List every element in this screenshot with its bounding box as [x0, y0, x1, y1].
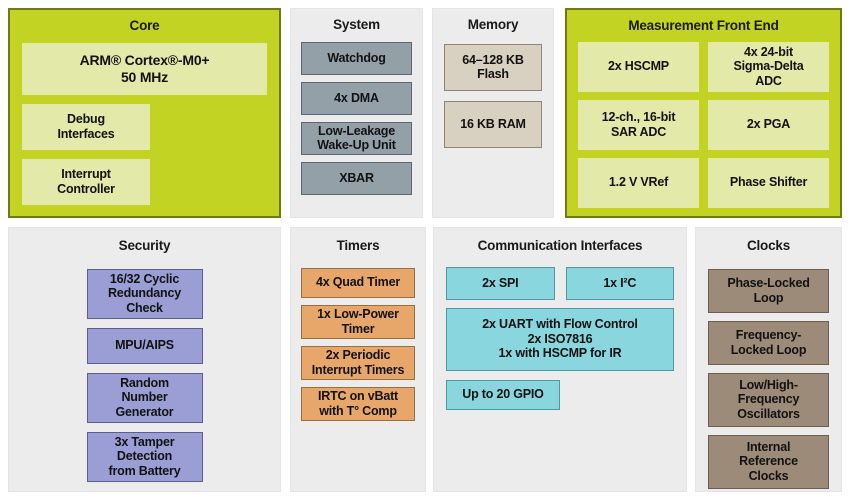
block-sigma-delta-adc: 4x 24-bit Sigma-Delta ADC [708, 42, 829, 92]
block-watchdog: Watchdog [301, 42, 412, 75]
core-block-list: ARM® Cortex®-M0+ 50 MHz Debug Interfaces… [10, 43, 279, 205]
communication-top-row: 2x SPI 1x I²C [446, 267, 674, 300]
panel-measurement-front-end: Measurement Front End 2x HSCMP 4x 24-bit… [565, 8, 842, 218]
block-ram: 16 KB RAM [444, 101, 542, 148]
block-2x-spi: 2x SPI [446, 267, 555, 300]
panel-title-security: Security [119, 239, 171, 253]
block-phase-locked-loop: Phase-Locked Loop [708, 269, 829, 313]
panel-title-core: Core [130, 19, 160, 33]
timers-block-list: 4x Quad Timer 1x Low-Power Timer 2x Peri… [291, 268, 425, 421]
system-block-list: Watchdog 4x DMA Low-Leakage Wake-Up Unit… [291, 42, 422, 195]
block-uart-iso7816-hscmp: 2x UART with Flow Control 2x ISO7816 1x … [446, 308, 674, 371]
block-periodic-interrupt-timers: 2x Periodic Interrupt Timers [301, 346, 415, 380]
panel-title-system: System [333, 18, 380, 32]
panel-title-memory: Memory [468, 18, 519, 32]
panel-title-measurement-front-end: Measurement Front End [628, 19, 778, 33]
panel-memory: Memory 64–128 KB Flash 16 KB RAM [432, 8, 554, 218]
panel-title-timers: Timers [337, 239, 380, 253]
panel-core: Core ARM® Cortex®-M0+ 50 MHz Debug Inter… [8, 8, 281, 218]
block-low-power-timer: 1x Low-Power Timer [301, 305, 415, 339]
security-block-list: 16/32 Cyclic Redundancy Check MPU/AIPS R… [9, 269, 280, 482]
block-vref: 1.2 V VRef [578, 158, 699, 208]
mfe-block-grid: 2x HSCMP 4x 24-bit Sigma-Delta ADC 12-ch… [567, 42, 840, 208]
panel-title-clocks: Clocks [747, 239, 790, 253]
block-random-number-generator: Random Number Generator [87, 373, 203, 423]
block-low-leakage-wakeup-unit: Low-Leakage Wake-Up Unit [301, 122, 412, 155]
block-debug-interfaces: Debug Interfaces [22, 104, 150, 150]
panel-system: System Watchdog 4x DMA Low-Leakage Wake-… [290, 8, 423, 218]
block-mpu-aips: MPU/AIPS [87, 328, 203, 364]
panel-title-communication-interfaces: Communication Interfaces [478, 239, 643, 253]
panel-timers: Timers 4x Quad Timer 1x Low-Power Timer … [290, 227, 426, 492]
communication-block-list: 2x SPI 1x I²C 2x UART with Flow Control … [434, 267, 686, 410]
panel-security: Security 16/32 Cyclic Redundancy Check M… [8, 227, 281, 492]
block-frequency-locked-loop: Frequency- Locked Loop [708, 321, 829, 365]
block-quad-timer: 4x Quad Timer [301, 268, 415, 298]
block-2x-pga: 2x PGA [708, 100, 829, 150]
block-arm-cortex-m0: ARM® Cortex®-M0+ 50 MHz [22, 43, 267, 95]
block-cyclic-redundancy-check: 16/32 Cyclic Redundancy Check [87, 269, 203, 319]
block-phase-shifter: Phase Shifter [708, 158, 829, 208]
block-irtc-vbatt: IRTC on vBatt with T° Comp [301, 387, 415, 421]
block-gpio: Up to 20 GPIO [446, 380, 560, 410]
block-interrupt-controller: Interrupt Controller [22, 159, 150, 205]
block-flash: 64–128 KB Flash [444, 44, 542, 91]
block-oscillators: Low/High- Frequency Oscillators [708, 373, 829, 427]
block-2x-hscmp: 2x HSCMP [578, 42, 699, 92]
block-tamper-detection: 3x Tamper Detection from Battery [87, 432, 203, 482]
memory-block-list: 64–128 KB Flash 16 KB RAM [433, 44, 553, 148]
block-sar-adc: 12-ch., 16-bit SAR ADC [578, 100, 699, 150]
block-xbar: XBAR [301, 162, 412, 195]
clocks-block-list: Phase-Locked Loop Frequency- Locked Loop… [696, 269, 841, 489]
block-diagram: Core ARM® Cortex®-M0+ 50 MHz Debug Inter… [0, 0, 850, 500]
block-4x-dma: 4x DMA [301, 82, 412, 115]
block-internal-reference-clocks: Internal Reference Clocks [708, 435, 829, 489]
panel-communication-interfaces: Communication Interfaces 2x SPI 1x I²C 2… [433, 227, 687, 492]
panel-clocks: Clocks Phase-Locked Loop Frequency- Lock… [695, 227, 842, 492]
block-1x-i2c: 1x I²C [566, 267, 675, 300]
